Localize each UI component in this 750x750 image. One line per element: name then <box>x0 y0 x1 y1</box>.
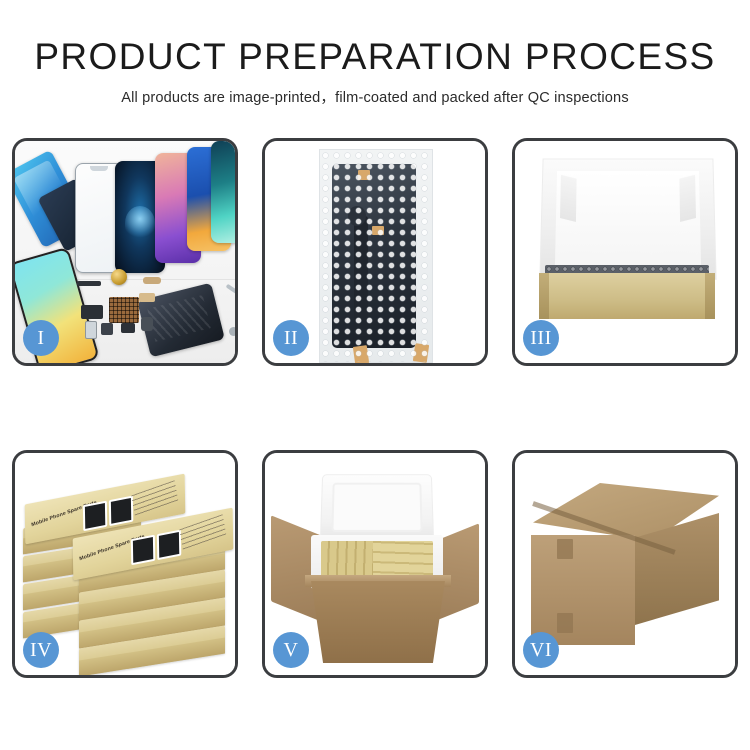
box-label-window-icon <box>109 496 133 527</box>
spare-part-icon <box>141 317 153 331</box>
spare-part-icon <box>101 323 113 335</box>
page-subtitle: All products are image-printed，film-coat… <box>0 86 750 107</box>
spare-part-icon <box>139 293 155 302</box>
camera-lens-icon <box>111 269 127 285</box>
copper-grid-part-icon <box>109 297 139 323</box>
process-step-panel-2[interactable]: II <box>262 138 488 366</box>
tape-tab-icon <box>413 343 429 363</box>
spare-part-icon <box>229 327 235 336</box>
foam-flap-left-icon <box>560 175 577 222</box>
flex-cable-icon <box>354 216 368 336</box>
process-step-panel-1[interactable]: I <box>12 138 238 366</box>
bubble-wrap-bag-icon <box>319 149 433 363</box>
tape-tab-icon <box>358 170 370 180</box>
step-badge-6: VI <box>523 632 559 668</box>
spare-part-icon <box>143 277 161 284</box>
process-step-panel-6[interactable]: VI <box>512 450 738 678</box>
screen-assembly-icon <box>332 164 416 348</box>
carton-tape-icon <box>557 613 573 633</box>
box-label-window-icon <box>83 501 107 532</box>
box-label-specs-icon <box>131 480 178 518</box>
step-badge-4: IV <box>23 632 59 668</box>
styrofoam-lid-icon <box>320 474 434 543</box>
shipping-carton-open-icon <box>311 581 445 663</box>
process-step-panel-3[interactable]: III <box>512 138 738 366</box>
page-title: PRODUCT PREPARATION PROCESS <box>0 36 750 77</box>
carton-front-face-icon <box>531 535 635 645</box>
process-step-panel-5[interactable]: V <box>262 450 488 678</box>
spare-part-icon <box>121 323 135 333</box>
spare-part-icon <box>81 305 103 319</box>
kraft-inner-box-icon <box>539 273 715 319</box>
step-badge-2: II <box>273 320 309 356</box>
spare-part-icon <box>226 284 235 299</box>
process-step-grid: I II <box>12 138 738 678</box>
carton-tape-icon <box>557 539 573 559</box>
tape-tab-icon <box>372 226 384 235</box>
phone-screen-teal-icon <box>211 141 235 243</box>
box-stack: Mobile Phone Spare Parts Mobile Phone Sp… <box>21 467 229 663</box>
page-header: PRODUCT PREPARATION PROCESS All products… <box>0 36 750 107</box>
step-badge-3: III <box>523 320 559 356</box>
process-step-panel-4[interactable]: Mobile Phone Spare Parts Mobile Phone Sp… <box>12 450 238 678</box>
spare-part-icon <box>77 281 101 286</box>
step-badge-1: I <box>23 320 59 356</box>
step-badge-5: V <box>273 632 309 668</box>
box-label-specs-icon <box>179 514 226 552</box>
foam-lid-icon <box>539 158 716 279</box>
box-label-window-icon <box>131 535 155 566</box>
tape-tab-icon <box>353 345 369 363</box>
box-label-window-icon <box>157 530 181 561</box>
foam-flap-right-icon <box>679 175 696 222</box>
spare-part-icon <box>85 321 97 339</box>
page-root: PRODUCT PREPARATION PROCESS All products… <box>0 0 750 750</box>
